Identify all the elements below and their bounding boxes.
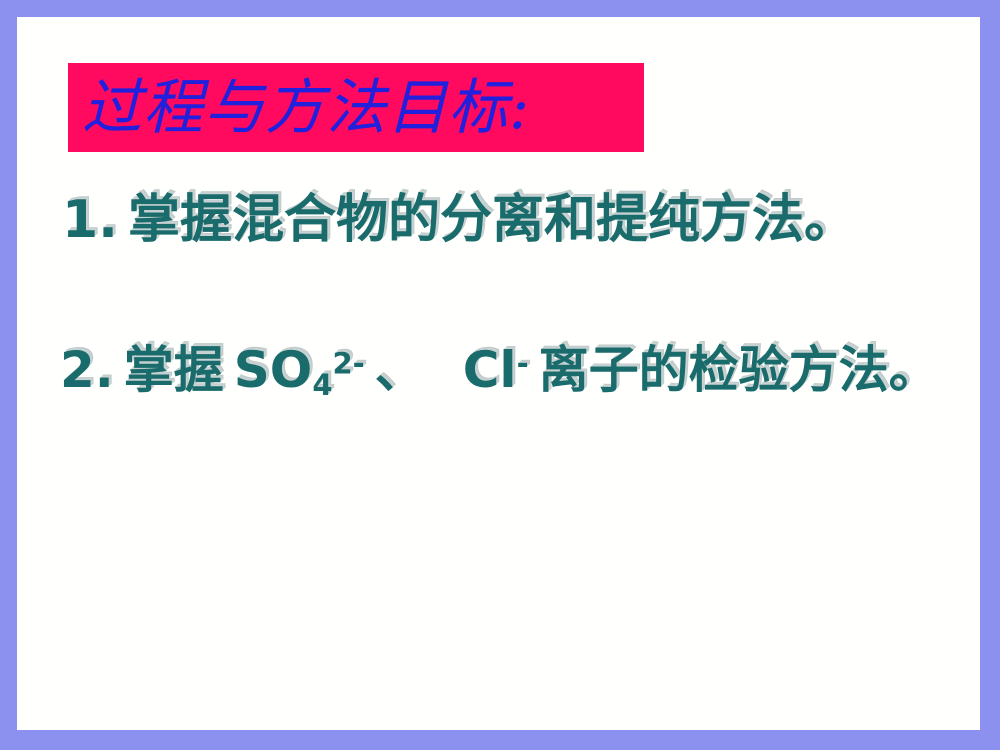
chloride-ion-formula: Cl- <box>463 341 529 399</box>
objective-2-suffix: 离子的检验方法。 <box>539 341 939 399</box>
sulfate-superscript: 2- <box>333 347 365 381</box>
objective-2-prefix: 掌握 <box>124 341 224 399</box>
slide-canvas: { "slide": { "border_color": "#8C91F0", … <box>0 0 1000 750</box>
sulfate-ion-formula: SO42- <box>234 341 365 399</box>
objective-1-number: 1. <box>62 190 118 250</box>
objective-item-1: 1.掌握混合物的分离和提纯方法。 <box>62 194 856 246</box>
body-text-area: 1.掌握混合物的分离和提纯方法。 2.掌握SO42-、Cl-离子的检验方法。 <box>17 17 980 730</box>
objective-2-number: 2. <box>60 341 114 399</box>
chloride-base: Cl <box>463 341 517 399</box>
sulfate-base: SO <box>234 341 313 399</box>
slide-content-area: 过程与方法目标: 1.掌握混合物的分离和提纯方法。 2.掌握SO42-、Cl-离… <box>17 17 980 730</box>
objective-1-text: 掌握混合物的分离和提纯方法。 <box>128 190 856 250</box>
objective-item-2: 2.掌握SO42-、Cl-离子的检验方法。 <box>60 345 939 400</box>
sulfate-subscript: 4 <box>312 368 332 402</box>
chloride-superscript: - <box>517 347 529 381</box>
ion-separator: 、 <box>375 341 425 399</box>
